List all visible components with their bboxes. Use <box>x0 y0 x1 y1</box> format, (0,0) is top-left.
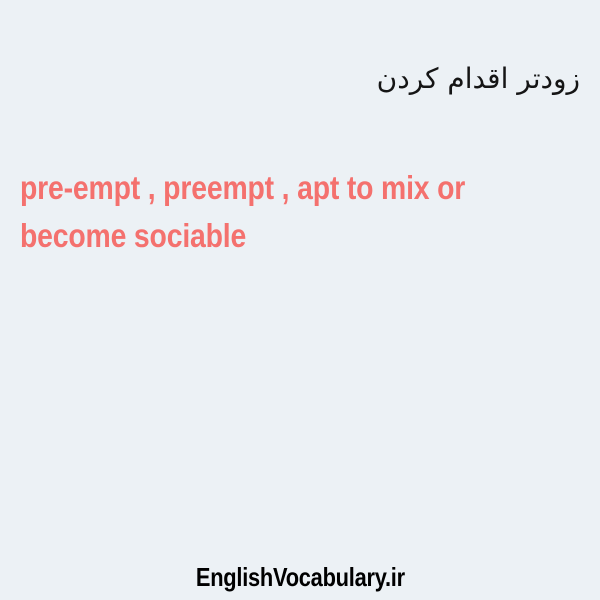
footer: EnglishVocabulary.ir <box>0 562 600 592</box>
translation-definition-text: pre-empt , preempt , apt to mix or becom… <box>20 164 489 260</box>
page-title: زودتر اقدام کردن <box>20 59 580 99</box>
site-name-label: EnglishVocabulary.ir <box>196 562 405 592</box>
vocabulary-entry-page: زودتر اقدام کردن pre-empt , preempt , ap… <box>0 0 600 600</box>
empty-content-area <box>0 262 600 560</box>
